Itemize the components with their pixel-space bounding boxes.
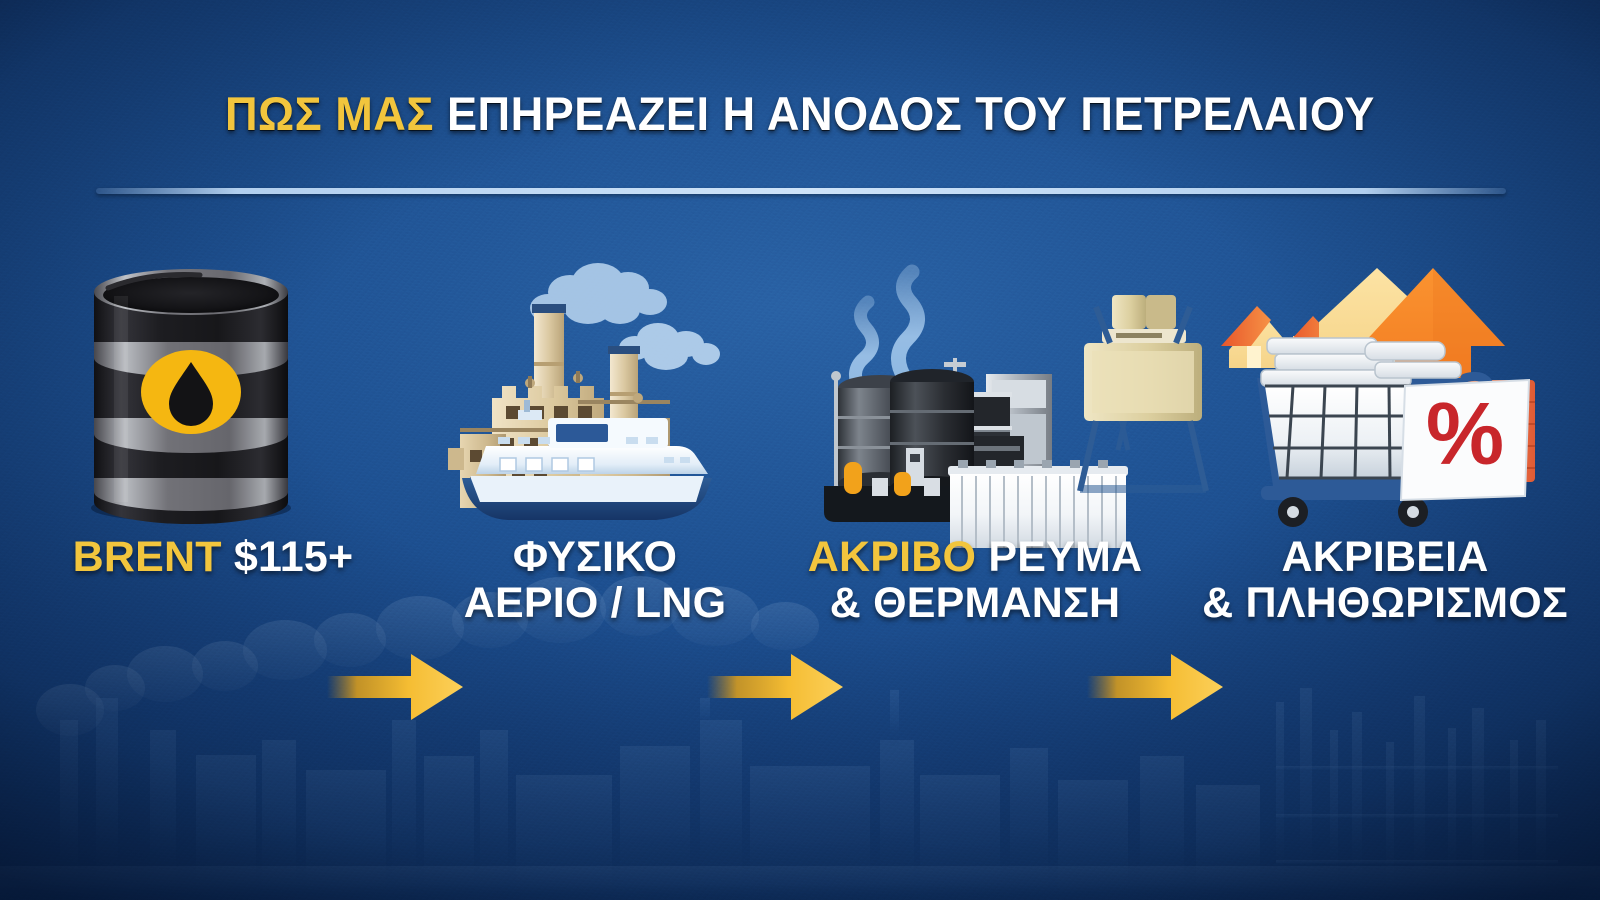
flow-diagram: BRENT $115+ [0, 250, 1600, 680]
flow-step-caption-inflation: ΑΚΡΙΒΕΙΑ & ΠΛΗΘΩΡΙΣΜΟΣ [1185, 535, 1585, 626]
svg-text:%: % [1426, 384, 1504, 483]
oil-barrel-icon [48, 250, 378, 550]
caption-line2: ΑΕΡΙΟ / LNG [395, 581, 795, 627]
caption-line2: & ΘΕΡΜΑΝΣΗ [775, 581, 1175, 627]
flow-step-caption-power: ΑΚΡΙΒΟ ΡΕΥΜΑ & ΘΕΡΜΑΝΣΗ [775, 535, 1175, 626]
caption-rest: ΦΥΣΙΚΟ [513, 533, 677, 581]
flow-step-caption-oil-barrel: BRENT $115+ [13, 535, 413, 581]
lng-plant-ship-icon [430, 250, 760, 550]
caption-highlight: BRENT [73, 533, 222, 581]
flow-step-lng[interactable]: ΦΥΣΙΚΟ ΑΕΡΙΟ / LNG [430, 250, 760, 550]
caption-rest: ΑΚΡΙΒΕΙΑ [1281, 533, 1488, 581]
caption-highlight: ΑΚΡΙΒΟ [808, 533, 976, 581]
flow-step-inflation[interactable]: % ΑΚΡΙΒΕΙΑ & ΠΛΗΘΩΡΙΣΜΟΣ [1215, 250, 1555, 550]
title-divider [96, 188, 1506, 194]
title-highlight: ΠΩΣ ΜΑΣ [225, 87, 434, 140]
flow-step-oil-barrel[interactable]: BRENT $115+ [48, 250, 378, 550]
shopping-cart-inflation-icon: % [1215, 250, 1555, 550]
arrow-right-icon-3 [1085, 648, 1225, 726]
infographic-canvas: ΠΩΣ ΜΑΣ ΕΠΗΡΕΑΖΕΙ Η ΑΝΟΔΟΣ ΤΟΥ ΠΕΤΡΕΛΑΙΟ… [0, 0, 1600, 900]
arrow-right-icon-2 [705, 648, 845, 726]
caption-line2: & ΠΛΗΘΩΡΙΣΜΟΣ [1185, 581, 1585, 627]
title-rest: ΕΠΗΡΕΑΖΕΙ Η ΑΝΟΔΟΣ ΤΟΥ ΠΕΤΡΕΛΑΙΟΥ [447, 87, 1375, 140]
percent-tag: % [1401, 380, 1529, 500]
oil-drop-badge [141, 350, 241, 434]
steam-wisp [898, 272, 917, 380]
caption-rest: $115+ [234, 533, 353, 581]
caption-rest: ΡΕΥΜΑ [988, 533, 1142, 581]
arrow-right-icon-1 [325, 648, 465, 726]
flow-step-caption-lng: ΦΥΣΙΚΟ ΑΕΡΙΟ / LNG [395, 535, 795, 626]
page-title: ΠΩΣ ΜΑΣ ΕΠΗΡΕΑΖΕΙ Η ΑΝΟΔΟΣ ΤΟΥ ΠΕΤΡΕΛΑΙΟ… [0, 90, 1600, 137]
transformer-substation-icon [1050, 285, 1230, 505]
